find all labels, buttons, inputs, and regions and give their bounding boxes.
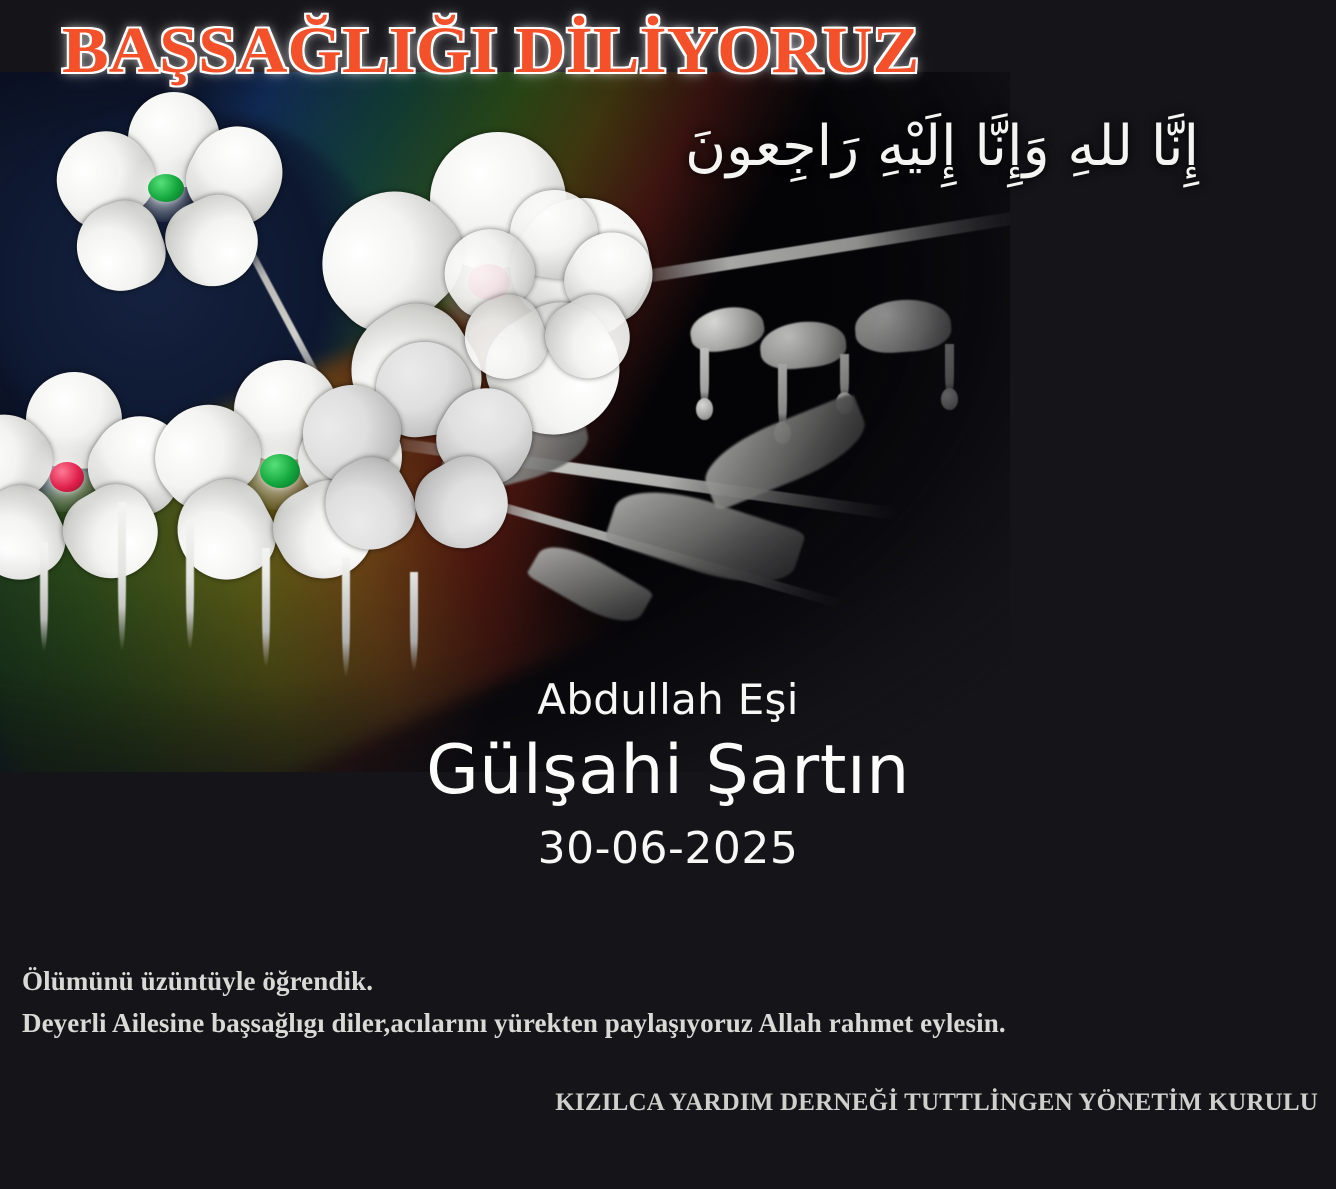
white-drip-6 (410, 572, 418, 672)
arabic-verse: إِنَّا للهِ وَإِنَّا إِلَيْهِ رَاجِعونَ (562, 112, 1322, 182)
white-drip-3 (186, 520, 194, 650)
deceased-info: Abdullah Eşi Gülşahi Şartın 30-06-2025 (0, 676, 1336, 875)
deceased-relation: Abdullah Eşi (0, 676, 1336, 724)
blossom-top-left (50, 92, 280, 292)
white-drip-4 (262, 548, 270, 668)
organization-signature: KIZILCA YARDIM DERNEĞİ TUTTLİNGEN YÖNETİ… (0, 1089, 1318, 1117)
memorial-poster: BAŞSAĞLIĞI DİLİYORUZ إِنَّا للهِ وَإِنَّ… (0, 0, 1336, 1189)
blossom-right-grey (300, 342, 530, 552)
drip-4 (945, 344, 954, 400)
deceased-date: 30-06-2025 (0, 824, 1336, 875)
drip-1 (700, 348, 709, 410)
condolence-line-1: Ölümünü üzüntüyle öğrendik. (22, 966, 1314, 997)
white-drip-2 (118, 502, 126, 652)
deceased-name: Gülşahi Şartın (0, 732, 1336, 810)
page-title: BAŞSAĞLIĞI DİLİYORUZ (62, 18, 919, 84)
white-drip-5 (342, 558, 350, 678)
condolence-line-2: Deyerli Ailesine başsağlıgı diler,acılar… (22, 1008, 1314, 1039)
white-drip-1 (40, 542, 48, 652)
